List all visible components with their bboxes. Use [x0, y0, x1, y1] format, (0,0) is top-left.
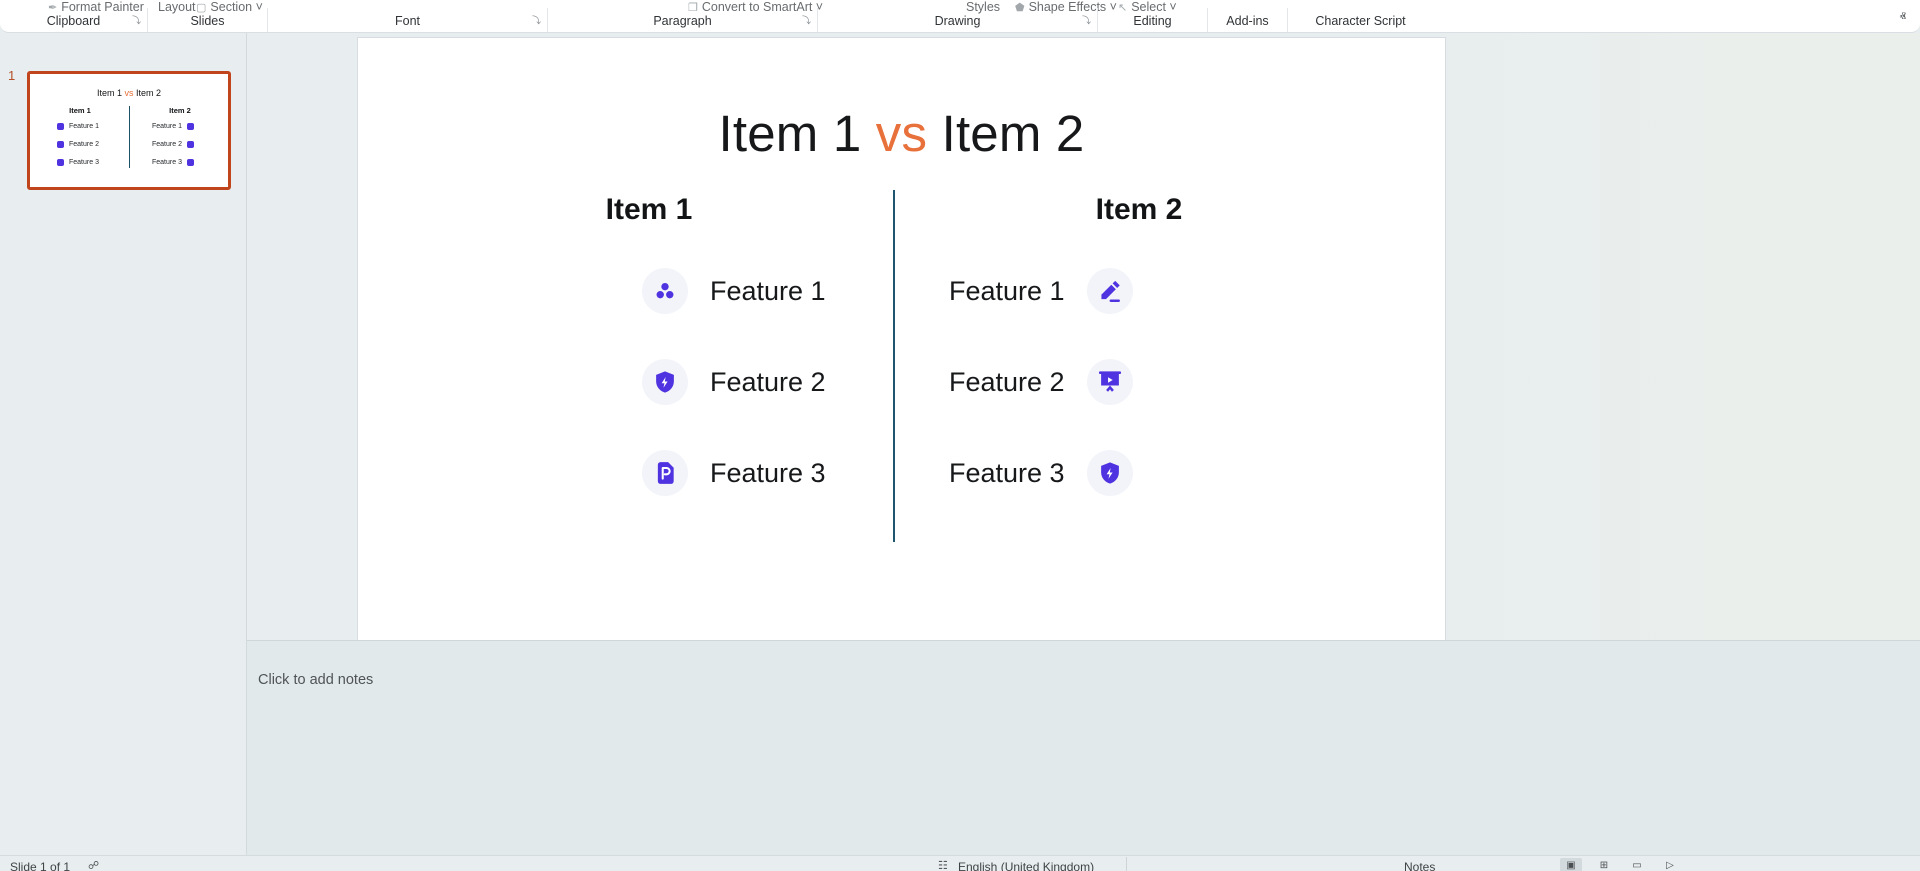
ribbon-group-font: Font⤵ [268, 8, 548, 33]
thumbnail-right-feature-label: Feature 1 [152, 123, 182, 130]
thumbnail-title-prefix: Item 1 [97, 88, 125, 98]
thumbnail-left-feature-icon [57, 141, 64, 148]
notes-toggle-label[interactable]: Notes [1404, 860, 1435, 871]
right-comparison-column: Item 2 Feature 1Feature 2Feature 3 [913, 190, 1343, 503]
pencil-edit-icon[interactable] [1087, 268, 1133, 314]
reading-view[interactable]: ▭ [1626, 858, 1648, 871]
left-column-header[interactable]: Item 1 [454, 190, 884, 230]
thumbnail-left-feature-row: Feature 2 [32, 136, 128, 152]
ribbon-group-labels: Clipboard⤵SlidesFont⤵Paragraph⤵Drawing⤵E… [0, 8, 1920, 33]
slide-thumbnail-1[interactable]: Item 1 vs Item 2 Item 1 Feature 1Feature… [27, 71, 231, 190]
left-feature-row[interactable]: Feature 2 [454, 352, 884, 412]
ribbon-group-paragraph: Paragraph⤵ [548, 8, 818, 33]
ribbon-group-editing: Editing [1098, 8, 1208, 33]
thumbnail-title-vs: vs [125, 88, 134, 98]
ribbon-group-clipboard: Clipboard⤵ [0, 8, 148, 33]
thumbnail-divider [129, 106, 130, 168]
slide-thumbnail-pane[interactable]: 1 Item 1 vs Item 2 Item 1 Feature 1Featu… [0, 33, 247, 855]
thumbnail-left-feature-icon [57, 159, 64, 166]
left-feature-label[interactable]: Feature 1 [710, 276, 826, 307]
ribbon-group-addins: Add-ins [1208, 8, 1288, 33]
slide-title-prefix: Item 1 [719, 105, 876, 162]
thumbnail-right-feature-row: Feature 1 [132, 118, 228, 134]
language-indicator[interactable]: English (United Kingdom) [958, 860, 1094, 871]
thumbnail-right-feature-label: Feature 2 [152, 141, 182, 148]
display-settings-icon[interactable]: ☷ [938, 859, 948, 871]
thumbnail-right-feature-row: Feature 3 [132, 154, 228, 170]
presentation-play-icon[interactable] [1087, 359, 1133, 405]
ribbon-group-slides: Slides [148, 8, 268, 33]
right-feature-label[interactable]: Feature 1 [949, 276, 1065, 307]
slide-indicator[interactable]: Slide 1 of 1 [10, 860, 70, 871]
dialog-launcher-paragraph[interactable]: ⤵ [802, 16, 811, 25]
powerpoint-window: ✒Format PainterLayout▢Section ˅❐Convert … [0, 0, 1920, 871]
ribbon: ✒Format PainterLayout▢Section ˅❐Convert … [0, 0, 1920, 33]
ribbon-group-label-paragraph: Paragraph [653, 14, 711, 28]
thumbnail-left-feature-row: Feature 3 [32, 154, 128, 170]
ribbon-group-label-slides: Slides [190, 14, 224, 28]
thumbnail-left-feature-row: Feature 1 [32, 118, 128, 134]
slide-title-vs: vs [876, 105, 927, 162]
slide-title[interactable]: Item 1 vs Item 2 [358, 104, 1445, 163]
thumbnail-right-feature-icon [187, 141, 194, 148]
ribbon-group-label-editing: Editing [1133, 14, 1171, 28]
dialog-launcher-drawing[interactable]: ⤵ [1082, 16, 1091, 25]
ribbon-group-label-character-script: Character Script [1315, 14, 1405, 28]
ribbon-group-label-addins: Add-ins [1226, 14, 1268, 28]
dialog-launcher-font[interactable]: ⤵ [532, 16, 541, 25]
thumbnail-left-feature-icon [57, 123, 64, 130]
shield-bolt-icon[interactable] [1087, 450, 1133, 496]
left-feature-label[interactable]: Feature 2 [710, 367, 826, 398]
right-feature-row[interactable]: Feature 2 [913, 352, 1343, 412]
ribbon-group-label-drawing: Drawing [935, 14, 981, 28]
right-column-header[interactable]: Item 2 [913, 190, 1343, 230]
thumbnail-right-header: Item 2 [132, 106, 228, 116]
normal-view[interactable]: ▣ [1560, 858, 1582, 871]
thumbnail-right-feature-row: Feature 2 [132, 136, 228, 152]
left-comparison-column: Item 1 Feature 1Feature 2Feature 3 [454, 190, 884, 503]
group-cluster-icon[interactable] [642, 268, 688, 314]
thumbnail-right-feature-icon [187, 159, 194, 166]
notes-placeholder[interactable]: Click to add notes [258, 672, 373, 688]
slide-title-suffix: Item 2 [927, 105, 1084, 162]
thumbnail-title: Item 1 vs Item 2 [30, 88, 228, 98]
thumbnail-right-feature-label: Feature 3 [152, 159, 182, 166]
slideshow-view[interactable]: ▷ [1659, 858, 1681, 871]
thumbnail-left-feature-label: Feature 2 [69, 141, 99, 148]
right-feature-label[interactable]: Feature 3 [949, 458, 1065, 489]
status-separator [1126, 857, 1127, 871]
left-feature-row[interactable]: Feature 1 [454, 261, 884, 321]
ribbon-group-drawing: Drawing⤵ [818, 8, 1098, 33]
ribbon-group-label-clipboard: Clipboard [47, 14, 101, 28]
status-bar: Slide 1 of 1 ☍ ☷ English (United Kingdom… [0, 855, 1920, 871]
left-feature-label[interactable]: Feature 3 [710, 458, 826, 489]
thumbnail-right-feature-icon [187, 123, 194, 130]
notes-pane[interactable]: Click to add notes [247, 640, 1920, 855]
thumbnail-left-feature-label: Feature 3 [69, 159, 99, 166]
column-divider [893, 190, 895, 542]
ribbon-group-label-font: Font [395, 14, 420, 28]
ribbon-group-character-script: Character Script [1288, 8, 1433, 33]
right-feature-row[interactable]: Feature 3 [913, 443, 1343, 503]
slide-canvas[interactable]: Item 1 vs Item 2 Item 1 Feature 1Feature… [357, 37, 1446, 652]
right-feature-row[interactable]: Feature 1 [913, 261, 1343, 321]
thumbnail-left-feature-label: Feature 1 [69, 123, 99, 130]
thumbnail-left-header: Item 1 [32, 106, 128, 116]
thumbnail-slide-number: 1 [8, 69, 15, 83]
right-feature-label[interactable]: Feature 2 [949, 367, 1065, 398]
file-p-icon[interactable] [642, 450, 688, 496]
dialog-launcher-clipboard[interactable]: ⤵ [132, 16, 141, 25]
left-feature-row[interactable]: Feature 3 [454, 443, 884, 503]
thumbnail-title-suffix: Item 2 [134, 88, 162, 98]
thumbnail-left-column: Item 1 Feature 1Feature 2Feature 3 [32, 106, 128, 170]
collapse-ribbon-button[interactable]: ⱏ [1900, 9, 1906, 25]
accessibility-icon[interactable]: ☍ [88, 859, 99, 871]
shield-bolt-icon[interactable] [642, 359, 688, 405]
thumbnail-right-column: Item 2 Feature 1Feature 2Feature 3 [132, 106, 228, 170]
slide-sorter-view[interactable]: ⊞ [1593, 858, 1615, 871]
